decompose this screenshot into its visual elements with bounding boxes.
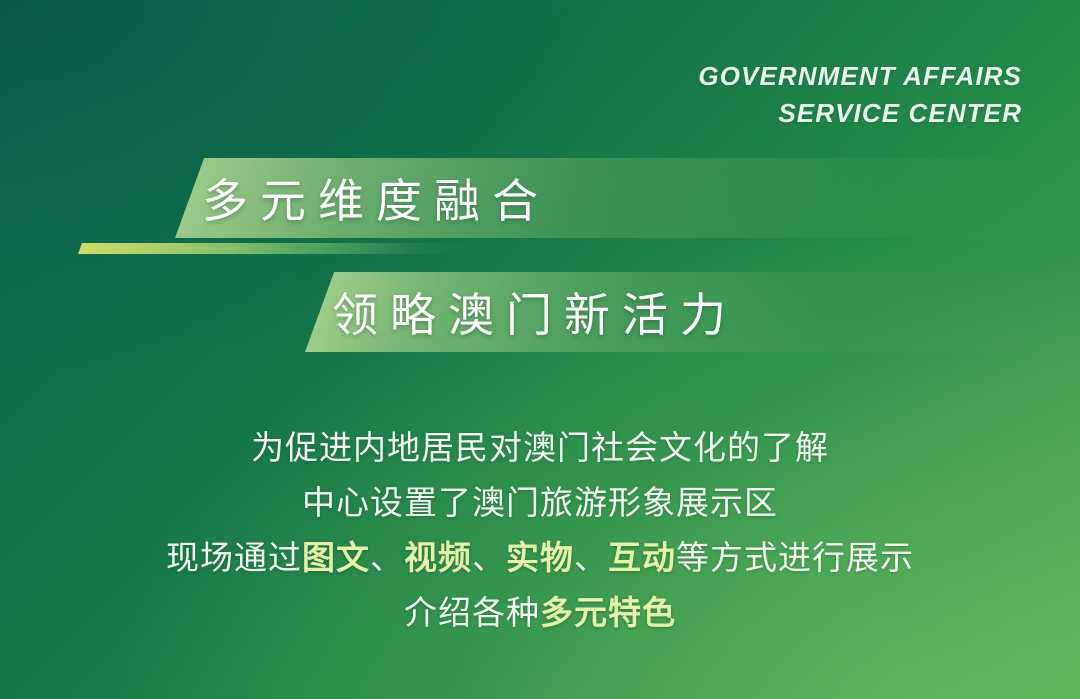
body-highlight: 互动 [608, 539, 676, 576]
body-line: 中心设置了澳门旅游形象展示区 [0, 475, 1080, 530]
eyebrow-line-1: GOVERNMENT AFFAIRS [698, 58, 1022, 95]
body-text: 等方式进行展示 [676, 539, 914, 576]
eyebrow-line-2: SERVICE CENTER [698, 95, 1022, 132]
poster-canvas: GOVERNMENT AFFAIRS SERVICE CENTER 多元维度融合… [0, 0, 1080, 699]
body-text: 、 [370, 539, 404, 576]
body-highlight: 多元特色 [540, 594, 676, 631]
body-text: 介绍各种 [404, 594, 540, 631]
body-line: 现场通过图文、视频、实物、互动等方式进行展示 [0, 530, 1080, 585]
headline-2: 领略澳门新活力 [332, 272, 738, 352]
body-text: 、 [472, 539, 506, 576]
body-line: 介绍各种多元特色 [0, 585, 1080, 640]
accent-rule [78, 243, 472, 254]
headline-1: 多元维度融合 [202, 158, 550, 238]
body-text: 、 [574, 539, 608, 576]
body-highlight: 视频 [404, 539, 472, 576]
body-copy: 为促进内地居民对澳门社会文化的了解 中心设置了澳门旅游形象展示区 现场通过图文、… [0, 420, 1080, 640]
body-highlight: 图文 [302, 539, 370, 576]
eyebrow-english-title: GOVERNMENT AFFAIRS SERVICE CENTER [698, 58, 1022, 132]
body-line: 为促进内地居民对澳门社会文化的了解 [0, 420, 1080, 475]
body-text: 中心设置了澳门旅游形象展示区 [302, 484, 778, 521]
body-highlight: 实物 [506, 539, 574, 576]
body-text: 现场通过 [166, 539, 302, 576]
body-text: 为促进内地居民对澳门社会文化的了解 [251, 429, 829, 466]
